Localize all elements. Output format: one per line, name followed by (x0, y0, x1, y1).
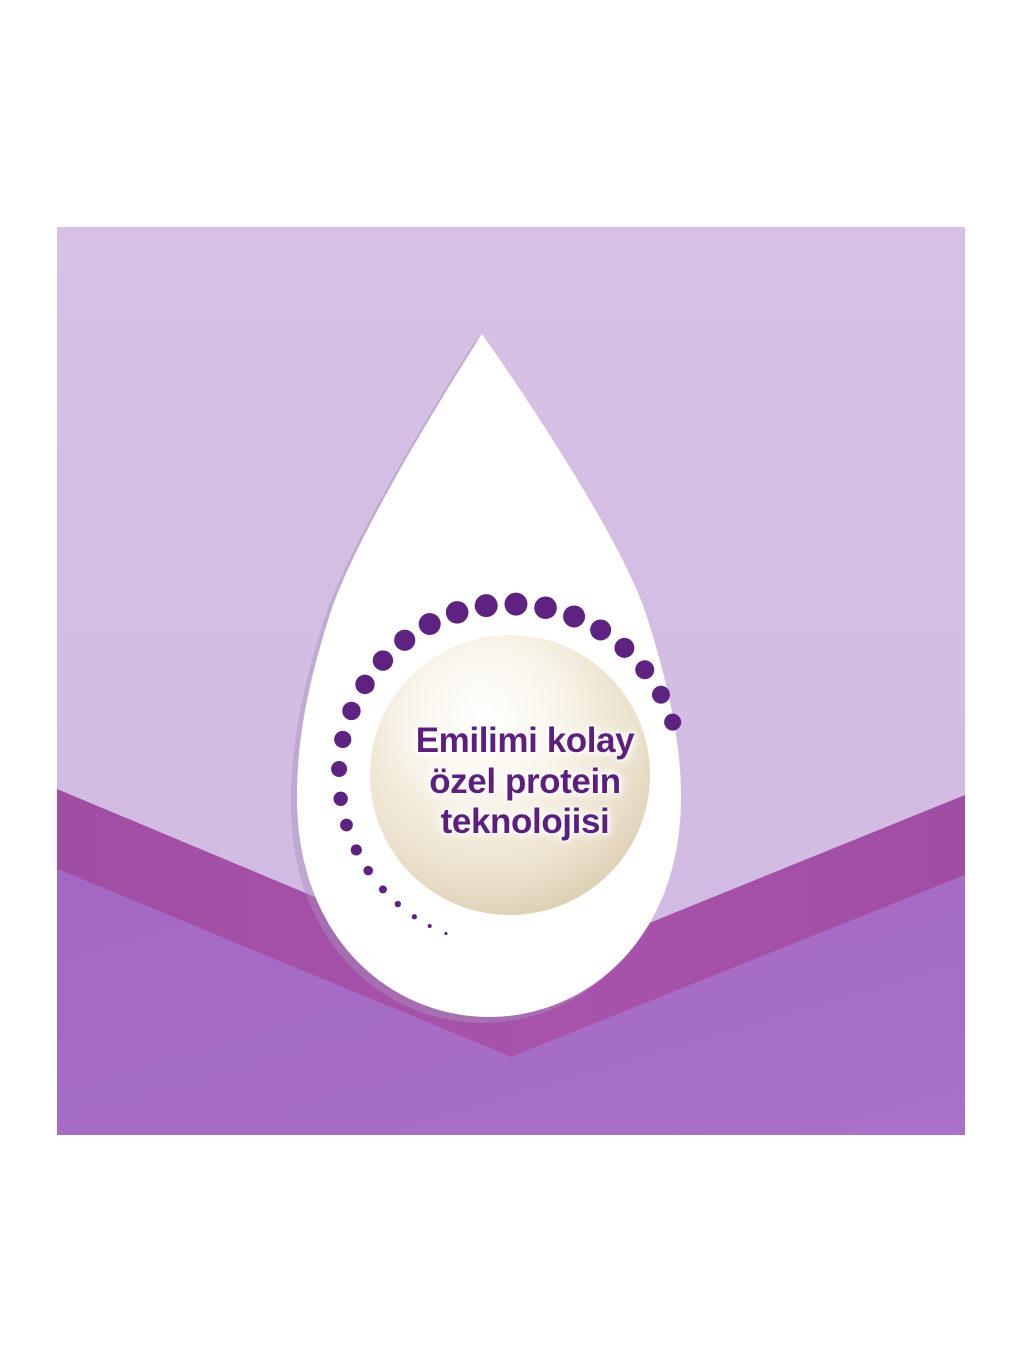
arc-dot-14 (355, 675, 374, 694)
arc-dot-5 (590, 619, 611, 640)
page-root: Emilimi kolay özel protein teknolojisi (0, 0, 1020, 1360)
arc-dot-15 (342, 702, 360, 720)
arc-dot-11 (419, 613, 441, 635)
arc-dot-13 (373, 650, 393, 670)
arc-dot-2 (652, 686, 670, 704)
arc-dot-16 (334, 731, 351, 748)
arc-dot-3 (635, 660, 654, 679)
arc-dot-21 (363, 866, 373, 876)
arc-dot-12 (394, 630, 415, 651)
arc-dot-1 (664, 714, 681, 731)
cream-protein-sphere (370, 635, 650, 915)
arc-dot-10 (446, 601, 469, 624)
arc-dot-18 (333, 792, 347, 806)
protein-technology-banner: Emilimi kolay özel protein teknolojisi (57, 227, 965, 1135)
banner-artwork (57, 227, 965, 1135)
arc-dot-25 (428, 924, 432, 928)
arc-dot-22 (379, 885, 387, 893)
arc-dot-6 (563, 605, 585, 627)
arc-dot-24 (412, 914, 417, 919)
arc-dot-4 (614, 638, 634, 658)
arc-dot-7 (534, 596, 557, 619)
arc-dot-9 (475, 594, 498, 617)
arc-dot-20 (351, 844, 362, 855)
arc-dot-19 (340, 819, 353, 832)
arc-dot-8 (504, 593, 527, 616)
arc-dot-23 (395, 901, 401, 907)
arc-dot-26 (444, 932, 447, 935)
arc-dot-17 (331, 761, 347, 777)
